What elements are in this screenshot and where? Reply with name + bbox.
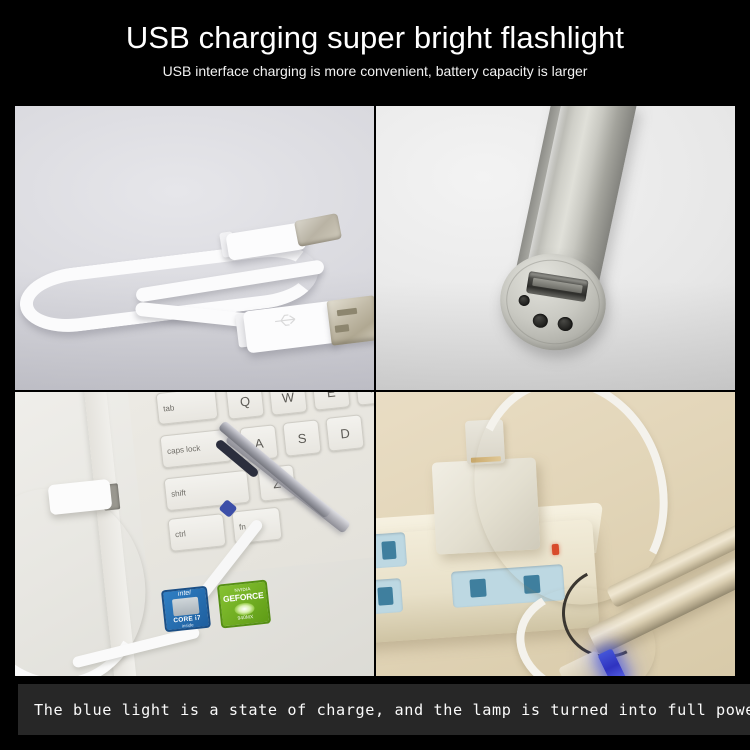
key-s: S — [282, 419, 321, 457]
photo-grid: White flat USB to micro-USB charging cab… — [15, 106, 735, 678]
photo-usb-cable: White flat USB to micro-USB charging cab… — [15, 106, 374, 390]
sticker-intel-brand: intel — [178, 589, 192, 597]
micro-usb-metal-tip — [294, 213, 342, 247]
socket-slot — [381, 541, 396, 560]
page-subtitle: USB interface charging is more convenien… — [0, 63, 750, 79]
usb-a-metal-shell — [326, 295, 374, 346]
caption-bar: The blue light is a state of charge, and… — [18, 684, 750, 735]
sticker-nvidia: NVIDIA GEFORCE 940MX — [217, 580, 271, 629]
sticker-nvidia-model: 940MX — [237, 614, 253, 622]
power-socket — [376, 578, 403, 616]
photo-wall-adapter-charging: Flashlight charging from a USB wall adap… — [376, 392, 735, 676]
photo-flashlight-port: Stainless steel flashlight tail cap with… — [376, 106, 735, 390]
key-q: Q — [225, 392, 264, 420]
caption-text: The blue light is a state of charge, and… — [18, 701, 750, 719]
key-ctrl: ctrl — [167, 513, 226, 552]
usb-logo-icon — [272, 309, 304, 331]
socket-slot — [377, 587, 393, 606]
socket-slot — [469, 579, 486, 598]
key-w: W — [268, 392, 307, 416]
product-banner: USB charging super bright flashlight USB… — [0, 0, 750, 750]
key-d: D — [325, 414, 364, 452]
photo-laptop-charging: tab Q W E R caps lock A S D shift Z ctrl… — [15, 392, 374, 676]
sticker-intel: intel CORE i7 inside — [161, 586, 211, 633]
power-socket — [376, 532, 407, 570]
banner-header: USB charging super bright flashlight USB… — [0, 0, 750, 106]
sticker-intel-chip-icon — [172, 597, 200, 617]
sticker-intel-tagline: inside — [182, 622, 194, 628]
page-title: USB charging super bright flashlight — [0, 20, 750, 56]
